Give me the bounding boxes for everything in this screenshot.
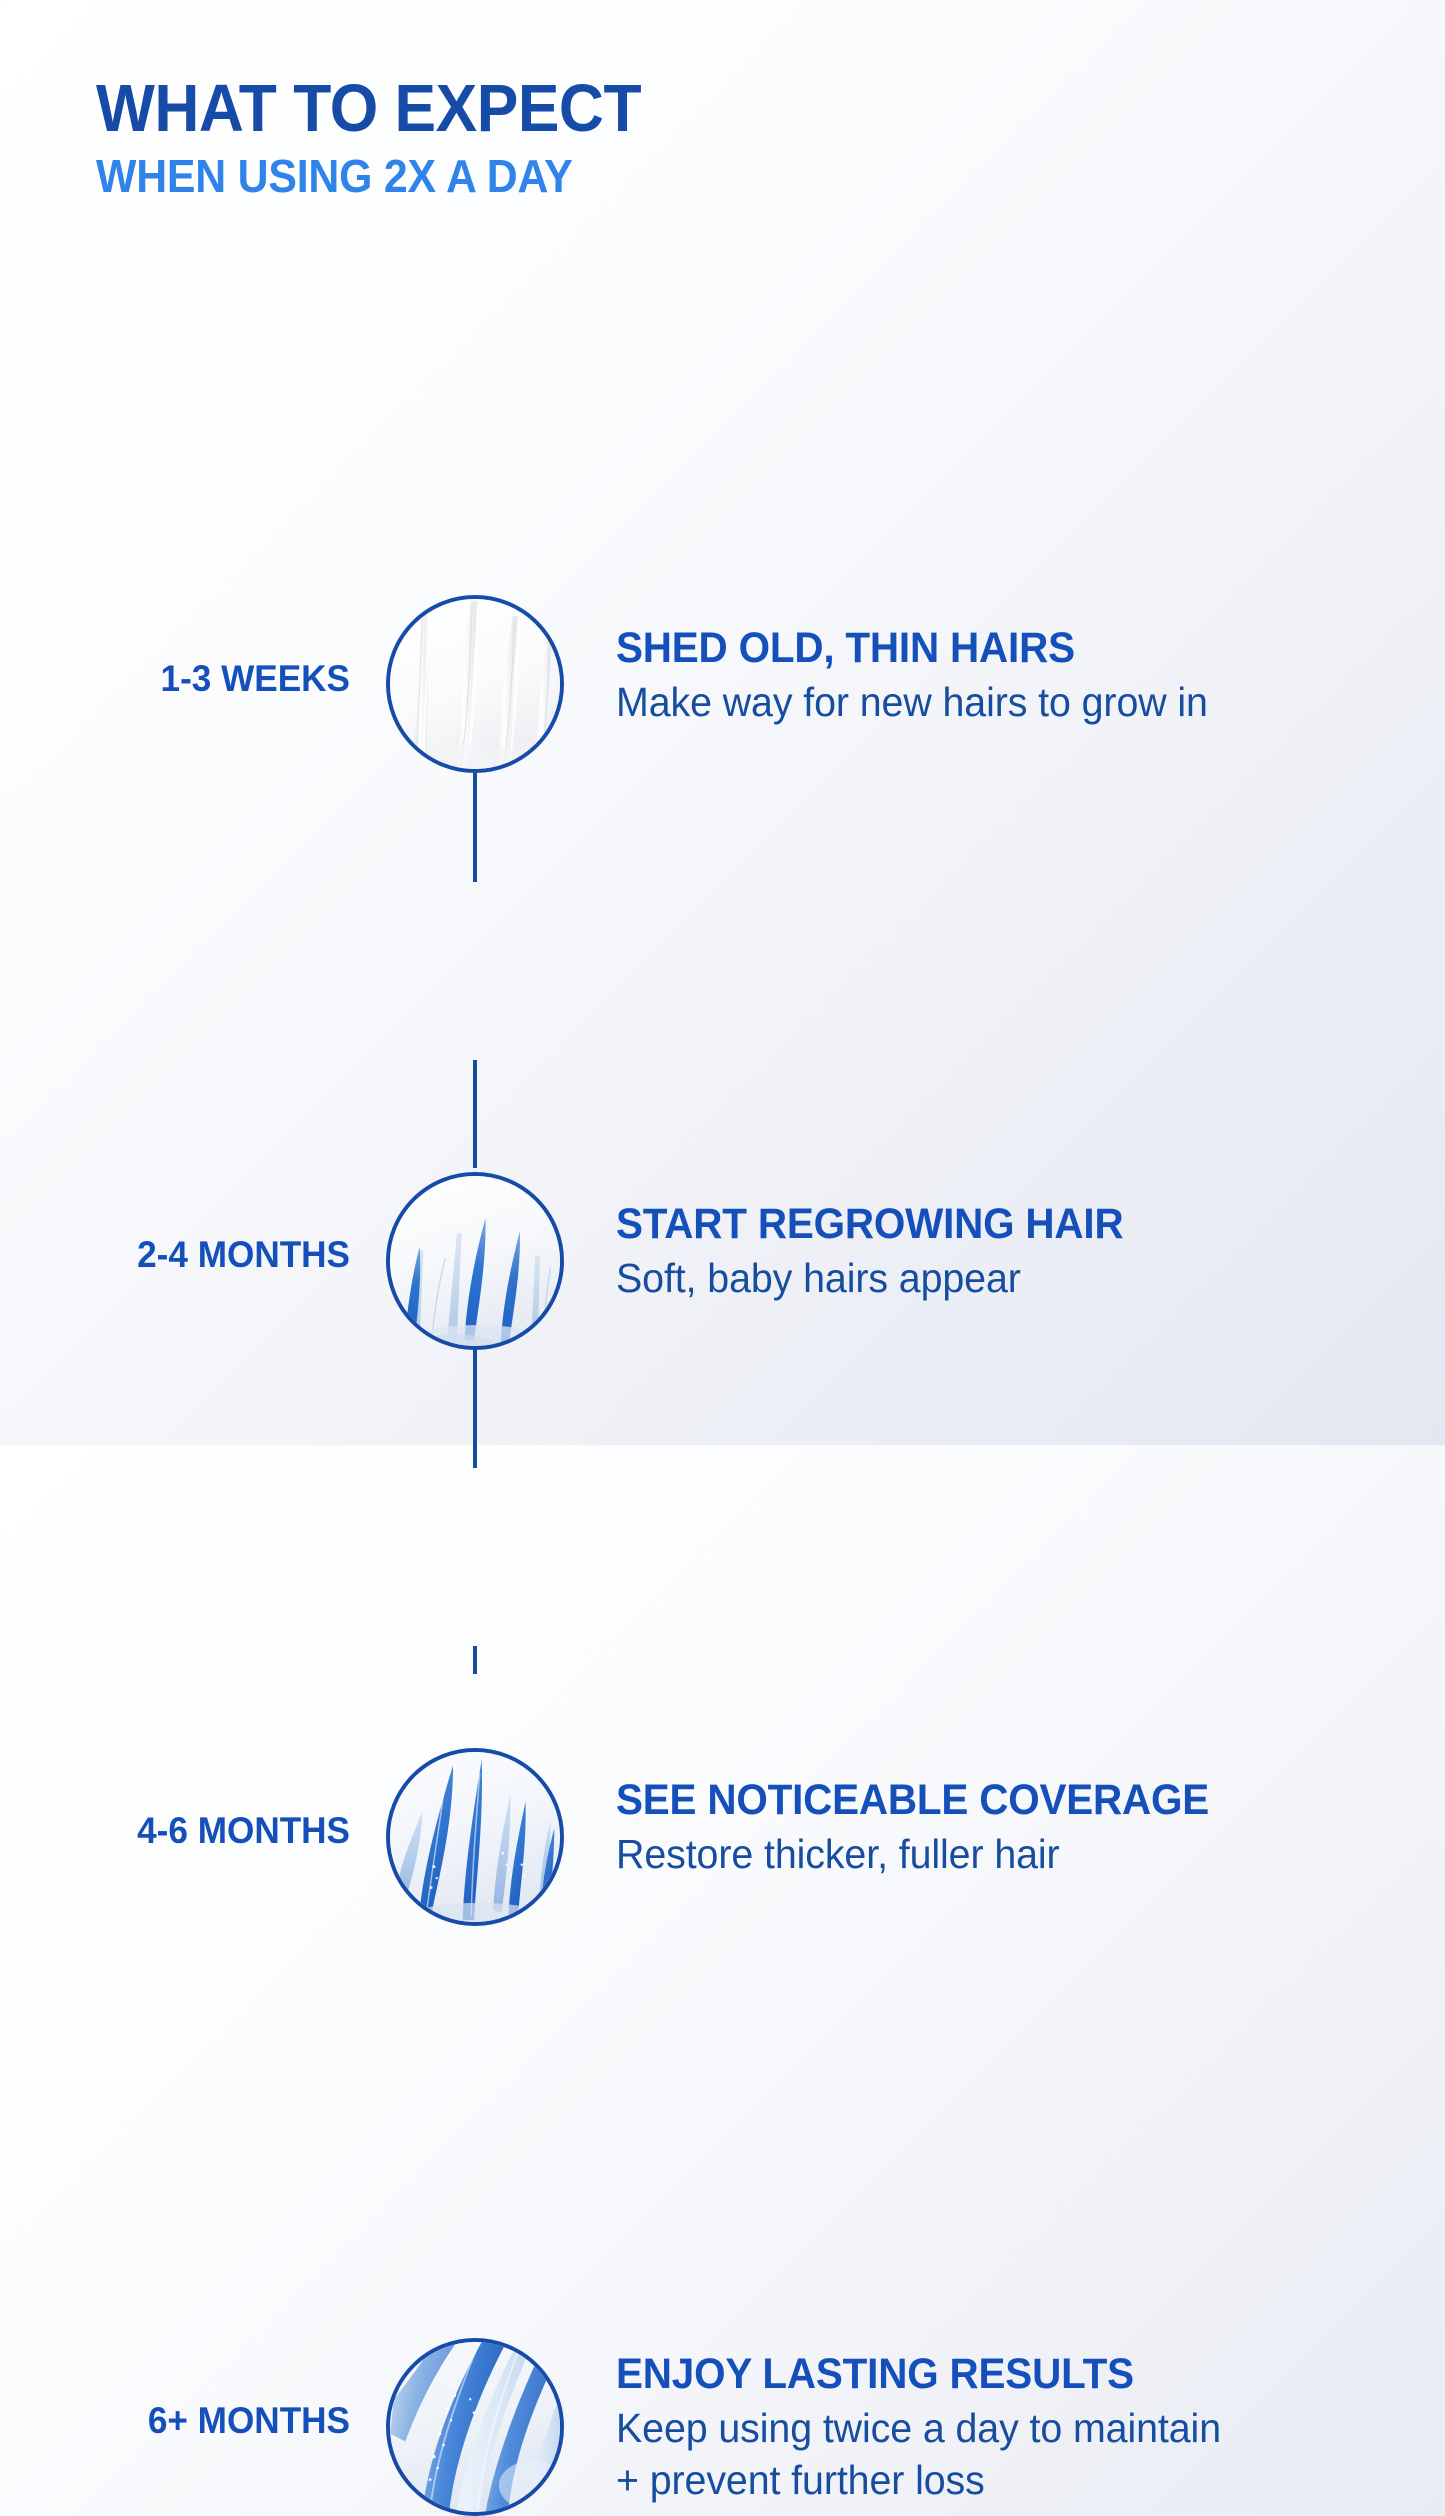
timeline-connector-line <box>473 1646 477 1674</box>
page-title: WHAT TO EXPECT <box>96 74 933 144</box>
timeline-step-heading: ENJOY LASTING RESULTS <box>616 2350 1330 2398</box>
hair-strands-thicker-blue-photo <box>386 1748 564 1926</box>
timeline-step-text: SEE NOTICEABLE COVERAGE Restore thicker,… <box>616 1776 1376 1880</box>
page-subtitle: WHEN USING 2X A DAY <box>96 150 933 202</box>
timeline-step: 2-4 MONTHS <box>0 578 1445 868</box>
timeline-step-heading: SEE NOTICEABLE COVERAGE <box>616 1776 1330 1824</box>
hair-strands-full-blue-photo <box>386 2338 564 2516</box>
timeline-step-label: 6+ MONTHS <box>75 2400 351 2442</box>
timeline-step: 1-3 WEEKS <box>0 288 1445 578</box>
timeline-step-description-line2: + prevent further loss <box>616 2454 1346 2506</box>
header: WHAT TO EXPECT WHEN USING 2X A DAY <box>96 74 996 202</box>
timeline-step-description: Restore thicker, fuller hair <box>616 1828 1346 1880</box>
timeline: 1-3 WEEKS <box>0 288 1445 1378</box>
timeline-step-label: 4-6 MONTHS <box>75 1810 351 1852</box>
infographic-page: WHAT TO EXPECT WHEN USING 2X A DAY 1-3 W… <box>0 0 1445 1445</box>
timeline-step-text: ENJOY LASTING RESULTS Keep using twice a… <box>616 2350 1376 2506</box>
timeline-step: 6+ MONTHS <box>0 1158 1445 1378</box>
timeline-step: 4-6 MONTHS <box>0 868 1445 1158</box>
timeline-step-description-line1: Keep using twice a day to maintain <box>616 2402 1346 2454</box>
